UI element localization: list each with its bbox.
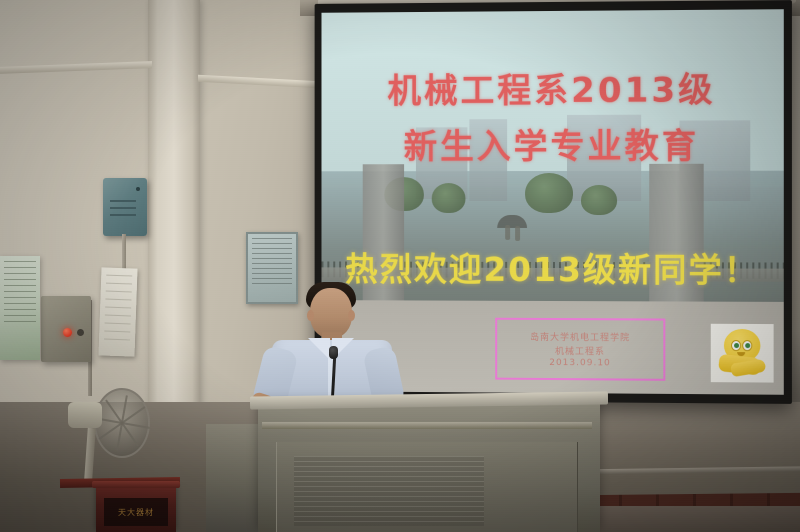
photo-tree: [432, 184, 466, 214]
green-wall-poster: [0, 256, 40, 360]
lecture-hall-photo: 机械工程系2013级 新生入学专业教育 热烈欢迎2013级新同学！ 岛南大学机电…: [0, 0, 800, 532]
photo-person: [515, 226, 520, 241]
red-wooden-display-cabinet: 天大器材: [96, 486, 176, 532]
cabinet-label-text: 天大器材: [118, 507, 154, 518]
photo-tree: [525, 173, 573, 213]
slide-title-line-2: 新生入学专业教育: [321, 118, 783, 168]
photo-person: [505, 225, 510, 240]
wall-mounted-teal-device: [103, 178, 147, 236]
slide-title-line-1: 机械工程系2013级: [321, 62, 783, 113]
wall-column: [148, 0, 200, 420]
presenter-head: [310, 288, 352, 338]
photo-umbrella: [497, 215, 527, 228]
slide-footer-line-2: 机械工程系: [555, 344, 605, 357]
wall-mounted-oscillating-fan: [62, 386, 154, 486]
slide-footer-line-1: 岛南大学机电工程学院: [530, 330, 630, 344]
photo-tree: [581, 185, 617, 215]
control-knob[interactable]: [77, 329, 84, 336]
posted-notice-sheet: [98, 267, 137, 356]
slide-footer-box: 岛南大学机电工程学院 机械工程系 2013.09.10: [495, 318, 665, 381]
electrical-control-box: [41, 296, 91, 362]
waving-smiley-emoji-icon: [711, 324, 774, 383]
podium-microphone: [329, 346, 338, 359]
lectern: [258, 404, 600, 532]
power-indicator-light: [63, 328, 72, 337]
slide-footer-line-3: 2013.09.10: [549, 358, 611, 368]
